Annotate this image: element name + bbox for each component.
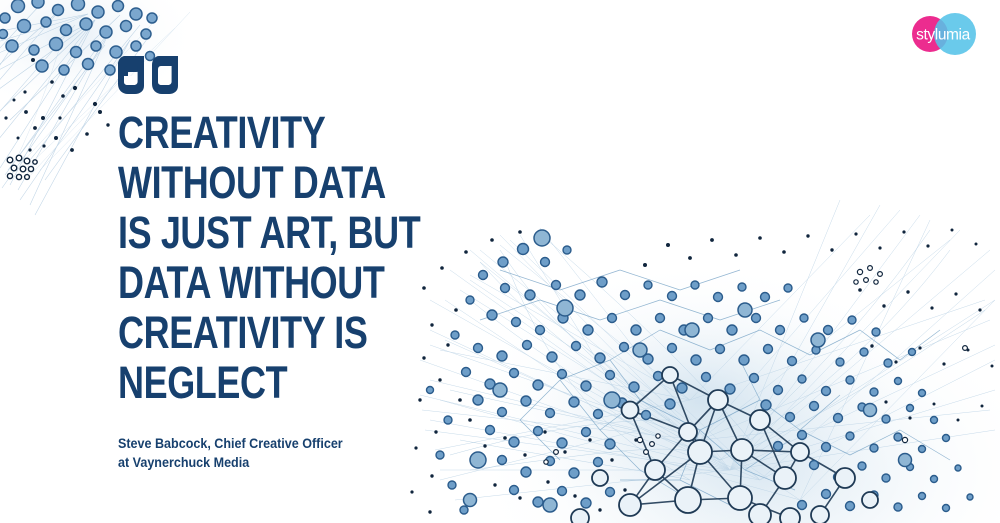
quote-line-3: IS JUST ART, BUT [118, 208, 454, 258]
quote-poster: CREATIVITY WITHOUT DATA IS JUST ART, BUT… [0, 0, 1000, 523]
quote-line-2: WITHOUT DATA [118, 158, 454, 208]
logo-wordmark: stylumia [916, 27, 970, 44]
open-quote-icon [118, 56, 538, 102]
quote-line-1: CREATIVITY [118, 108, 454, 158]
quote-line-6: NEGLECT [118, 358, 454, 408]
stylumia-logo[interactable]: stylumia [900, 8, 986, 60]
quote-block: CREATIVITY WITHOUT DATA IS JUST ART, BUT… [118, 56, 538, 408]
attribution-line-1: Steve Babcock, Chief Creative Officer [118, 434, 343, 453]
quote-line-5: CREATIVITY IS [118, 308, 454, 358]
attribution-line-2: at Vaynerchuck Media [118, 453, 343, 472]
quote-text: CREATIVITY WITHOUT DATA IS JUST ART, BUT… [118, 108, 538, 408]
quote-line-4: DATA WITHOUT [118, 258, 454, 308]
attribution: Steve Babcock, Chief Creative Officer at… [118, 434, 343, 472]
